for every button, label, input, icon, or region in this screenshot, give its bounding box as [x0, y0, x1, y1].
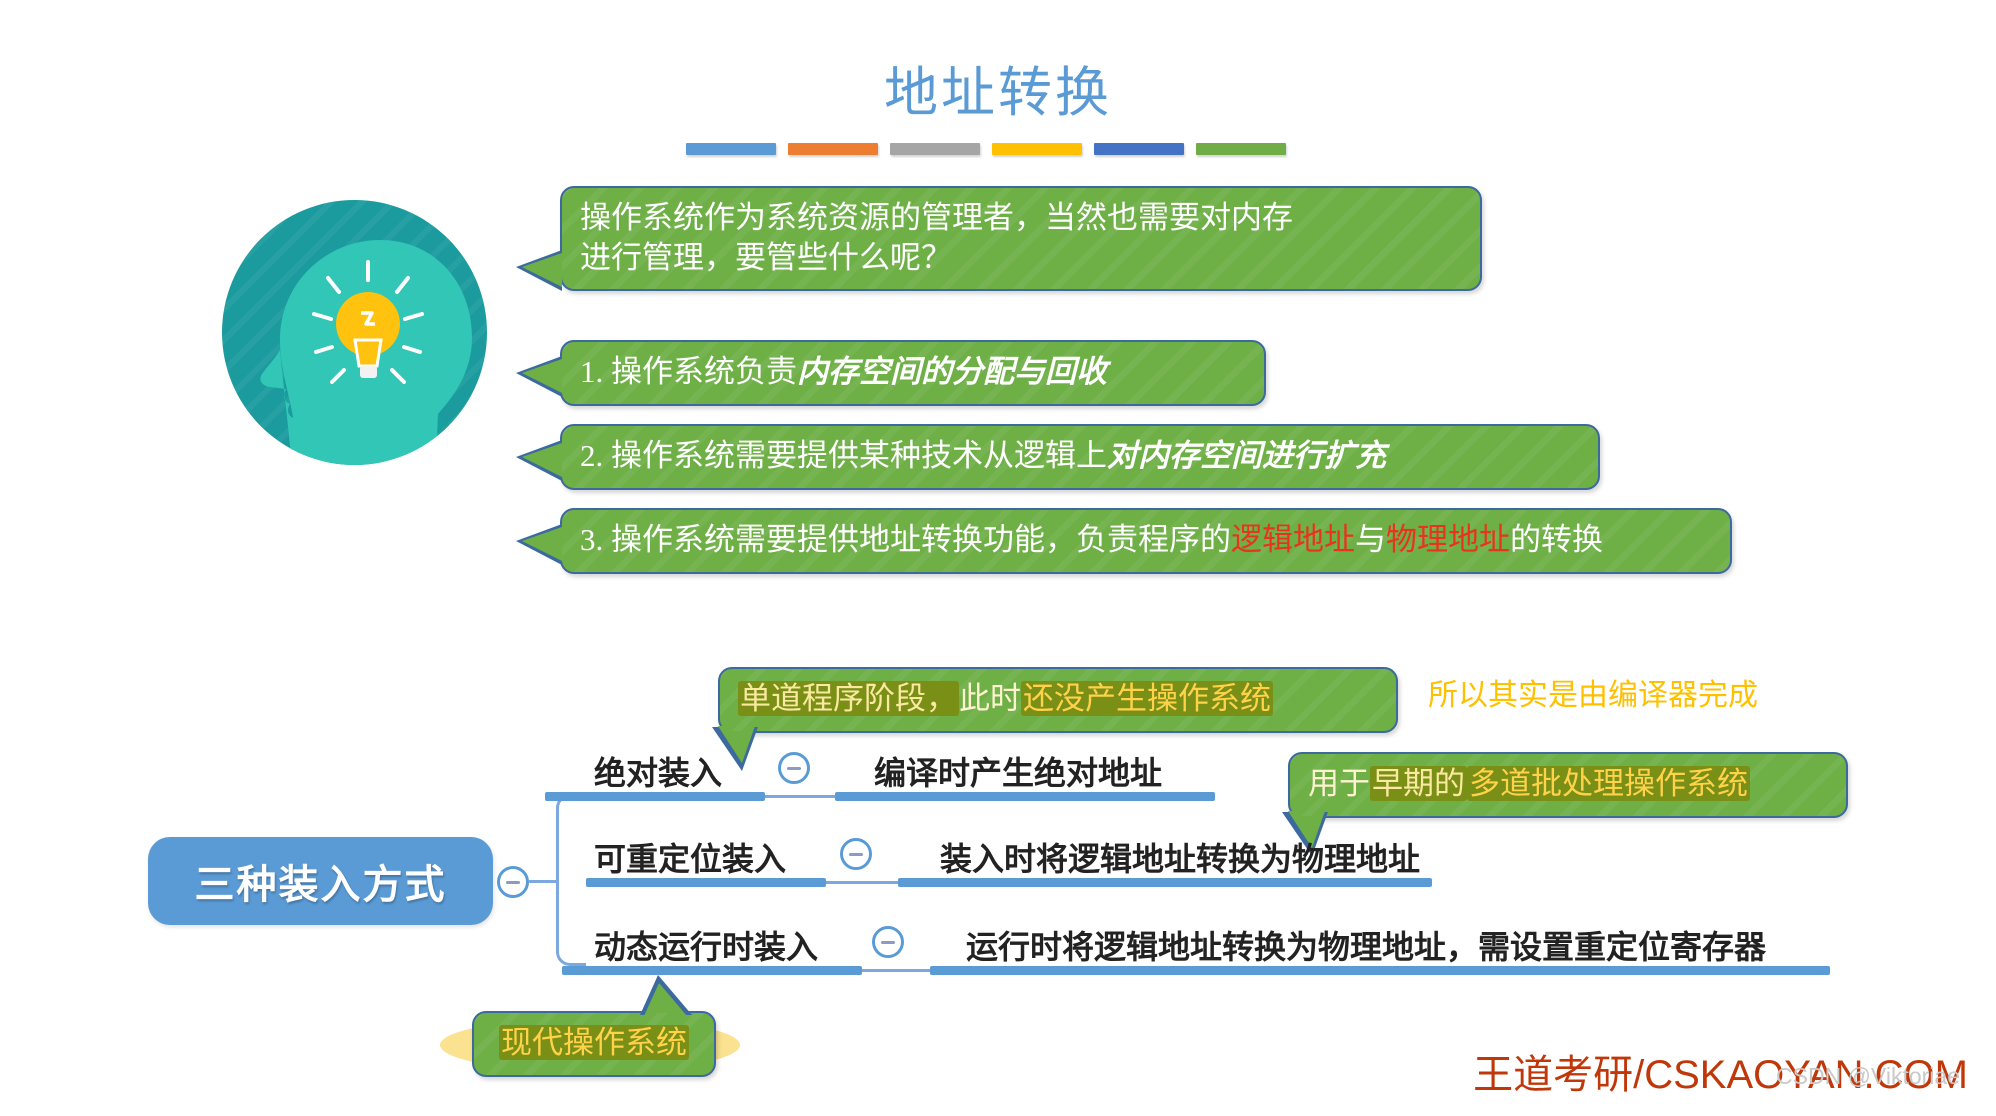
slide-canvas: 地址转换 [0, 0, 1996, 1116]
callout-tail-fill [522, 527, 562, 561]
mindmap-branch-3-underline-a [562, 966, 862, 975]
compiler-note-text: 所以其实是由编译器完成 [1428, 670, 1758, 714]
mindmap-branch-1-desc[interactable]: 编译时产生绝对地址 [874, 748, 1162, 794]
single-program-part-1: 单道程序阶段， [738, 681, 959, 716]
mindmap-branch-1-connector [765, 795, 835, 798]
minus-circle-icon-root[interactable] [497, 866, 529, 898]
point-3-logical-address: 逻辑地址 [1231, 522, 1355, 557]
mindmap-branch-2-underline-a [586, 878, 826, 887]
point-3-mid: 与 [1355, 522, 1386, 557]
bar-navy [1094, 143, 1184, 155]
callout-single-program: 单道程序阶段，此时还没产生操作系统 [718, 667, 1398, 733]
callout-point-3-text: 3. 操作系统需要提供地址转换功能，负责程序的逻辑地址与物理地址的转换 [562, 510, 1730, 572]
callout-tail-fill [644, 983, 687, 1016]
callout-tail-fill [718, 726, 755, 763]
mindmap-branch-1-underline-a [545, 792, 765, 801]
point-3-suffix: 的转换 [1510, 522, 1603, 557]
early-batch-part-2: 早期的 [1370, 766, 1467, 801]
minus-circle-icon-branch-3[interactable] [872, 926, 904, 958]
point-2-prefix: 2. 操作系统需要提供某种技术从逻辑上 [580, 438, 1107, 473]
callout-point-2-text: 2. 操作系统需要提供某种技术从逻辑上对内存空间进行扩充 [562, 426, 1598, 488]
mindmap-root-label: 三种装入方式 [195, 852, 447, 910]
point-2-emphasis: 对内存空间进行扩充 [1107, 438, 1386, 473]
mindmap-branch-2-label[interactable]: 可重定位装入 [594, 834, 786, 880]
callout-early-batch: 用于早期的多道批处理操作系统 [1288, 752, 1848, 818]
modern-os-label: 现代操作系统 [499, 1025, 689, 1060]
bar-yellow [992, 143, 1082, 155]
mindmap-branch-2-desc[interactable]: 装入时将逻辑地址转换为物理地址 [940, 834, 1420, 880]
bar-gray [890, 143, 980, 155]
minus-circle-icon-branch-2[interactable] [840, 838, 872, 870]
mindmap-branch-3-connector [862, 969, 930, 972]
callout-tail-fill [522, 443, 562, 477]
point-1-prefix: 1. 操作系统负责 [580, 354, 797, 389]
mindmap-branch-2-underline-b [898, 878, 1432, 887]
callout-modern-os-text: 现代操作系统 [474, 1013, 714, 1075]
brain-lightbulb-art [222, 200, 487, 465]
brain-lightbulb-icon [222, 200, 487, 465]
callout-point-1-text: 1. 操作系统负责内存空间的分配与回收 [562, 342, 1264, 404]
single-program-part-3: 还没产生操作系统 [1021, 681, 1273, 716]
point-3-physical-address-b: 址 [1479, 522, 1510, 557]
mindmap-bracket [556, 794, 586, 966]
callout-intro: 操作系统作为系统资源的管理者，当然也需要对内存 进行管理，要管些什么呢？ [560, 186, 1482, 291]
mindmap-branch-3-label[interactable]: 动态运行时装入 [594, 922, 818, 968]
mindmap-branch-1-underline-b [835, 792, 1215, 801]
bar-green [1196, 143, 1286, 155]
callout-early-batch-text: 用于早期的多道批处理操作系统 [1290, 754, 1846, 816]
early-batch-part-3: 多道批处理操作系统 [1467, 766, 1750, 801]
callout-intro-text: 操作系统作为系统资源的管理者，当然也需要对内存 进行管理，要管些什么呢？ [562, 188, 1480, 289]
mindmap-branch-3-desc[interactable]: 运行时将逻辑地址转换为物理地址，需设置重定位寄存器 [966, 922, 1766, 968]
accent-bar-strip [686, 143, 1286, 155]
mindmap-branch-2-connector [826, 881, 898, 884]
page-title: 地址转换 [0, 48, 1996, 127]
mindmap-root-connector [529, 880, 557, 883]
intro-line-2: 进行管理，要管些什么呢？ [580, 240, 952, 275]
point-3-prefix: 3. 操作系统需要提供地址转换功能，负责程序的 [580, 522, 1231, 557]
bar-blue [686, 143, 776, 155]
callout-point-1: 1. 操作系统负责内存空间的分配与回收 [560, 340, 1266, 406]
callout-point-2: 2. 操作系统需要提供某种技术从逻辑上对内存空间进行扩充 [560, 424, 1600, 490]
single-program-part-2: 此时 [959, 681, 1021, 716]
mindmap-root-node[interactable]: 三种装入方式 [148, 837, 493, 925]
bar-orange [788, 143, 878, 155]
callout-modern-os: 现代操作系统 [472, 1011, 716, 1077]
callout-tail-fill [522, 253, 562, 287]
callout-point-3: 3. 操作系统需要提供地址转换功能，负责程序的逻辑地址与物理地址的转换 [560, 508, 1732, 574]
callout-tail-fill [522, 359, 562, 393]
mindmap-branch-3-underline-b [930, 966, 1830, 975]
minus-circle-icon-branch-1[interactable] [778, 752, 810, 784]
early-batch-part-1: 用于 [1308, 766, 1370, 801]
watermark-text: CSDN @Viktoriae [1776, 1063, 1960, 1090]
mindmap-branch-1-label[interactable]: 绝对装入 [594, 748, 722, 794]
intro-line-1: 操作系统作为系统资源的管理者，当然也需要对内存 [580, 200, 1293, 235]
point-1-emphasis: 内存空间的分配与回收 [797, 354, 1107, 389]
callout-single-program-text: 单道程序阶段，此时还没产生操作系统 [720, 669, 1396, 731]
point-3-physical-address-a: 物理地 [1386, 522, 1479, 557]
